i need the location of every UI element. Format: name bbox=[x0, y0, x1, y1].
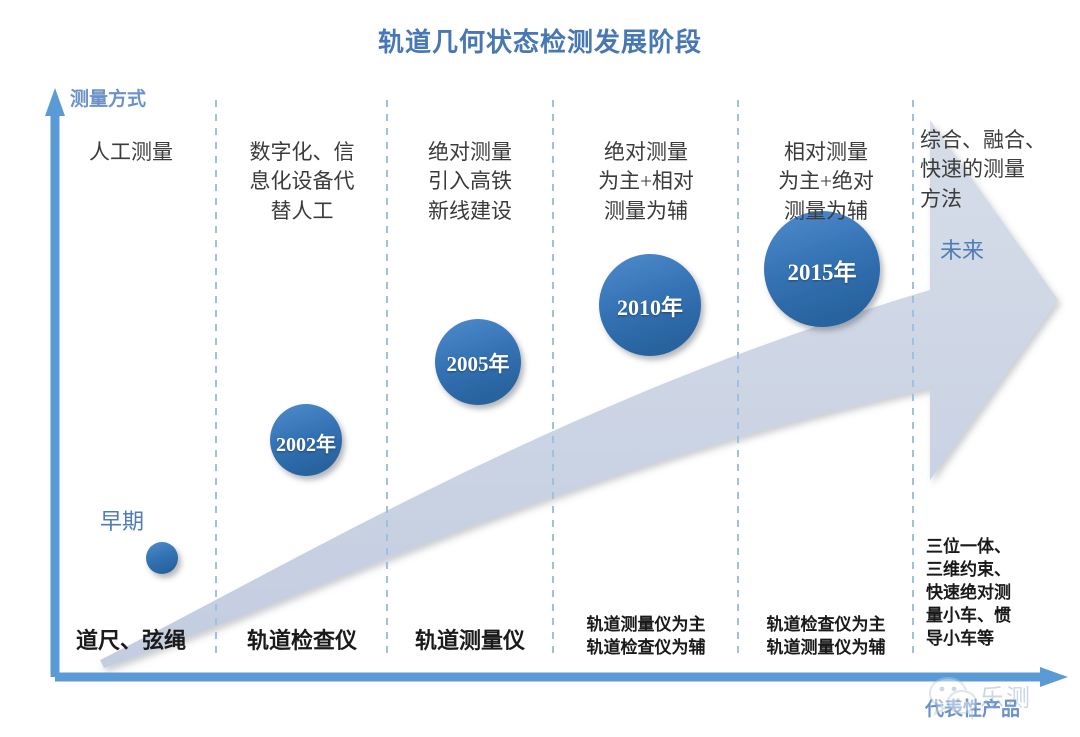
method-cell-5: 相对测量为主+绝对测量为辅 bbox=[744, 138, 908, 226]
era-label-early: 早期 bbox=[100, 504, 144, 536]
product-cell-4: 轨道测量仪为主轨道检查仪为辅 bbox=[558, 614, 734, 660]
x-axis-label: 代表性产品 bbox=[925, 694, 1020, 721]
product-cell-3: 轨道测量仪 bbox=[392, 626, 548, 656]
bubble-2015 bbox=[764, 211, 880, 327]
bubble-2010 bbox=[599, 254, 701, 356]
method-cell-2: 数字化、信息化设备代替人工 bbox=[222, 138, 382, 226]
product-cell-1: 道尺、弦绳 bbox=[48, 626, 214, 656]
product-cell-5: 轨道检查仪为主轨道测量仪为辅 bbox=[742, 614, 910, 660]
bubble-2005 bbox=[435, 319, 521, 405]
slide-canvas: 轨道几何状态检测发展阶段 bbox=[0, 0, 1080, 737]
method-cell-6: 综合、融合、快速的测量方法 bbox=[920, 126, 1080, 214]
y-axis-label: 测量方式 bbox=[70, 84, 146, 111]
x-axis-arrowhead bbox=[1040, 667, 1068, 687]
y-axis-arrowhead bbox=[45, 88, 65, 116]
method-cell-3: 绝对测量引入高铁新线建设 bbox=[392, 138, 548, 226]
method-cell-4: 绝对测量为主+相对测量为辅 bbox=[560, 138, 732, 226]
era-label-future: 未来 bbox=[940, 233, 984, 265]
bubble-early bbox=[146, 542, 178, 574]
product-cell-6: 三位一体、三维约束、快速绝对测量小车、惯导小车等 bbox=[926, 536, 1078, 651]
product-cell-2: 轨道检查仪 bbox=[222, 626, 382, 656]
bubble-2002 bbox=[270, 404, 342, 476]
method-cell-1: 人工测量 bbox=[48, 138, 214, 167]
